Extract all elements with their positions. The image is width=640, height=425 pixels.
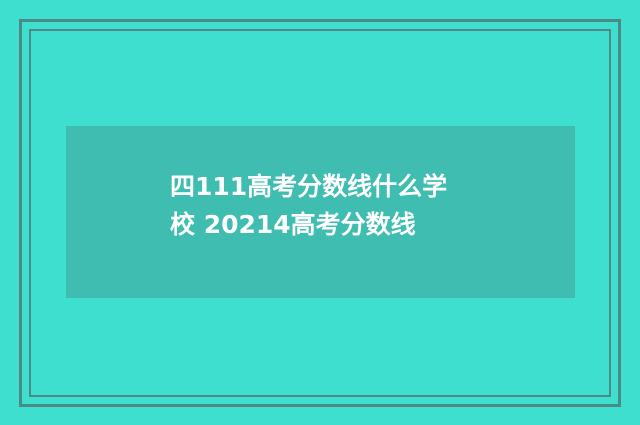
banner-root: 四111高考分数线什么学 校 20214高考分数线: [0, 0, 640, 425]
title-line-1: 四111高考分数线什么学: [170, 168, 500, 206]
title-line-2: 校 20214高考分数线: [170, 206, 500, 244]
title-block: 四111高考分数线什么学 校 20214高考分数线: [170, 168, 500, 244]
content-panel: 四111高考分数线什么学 校 20214高考分数线: [66, 126, 575, 298]
